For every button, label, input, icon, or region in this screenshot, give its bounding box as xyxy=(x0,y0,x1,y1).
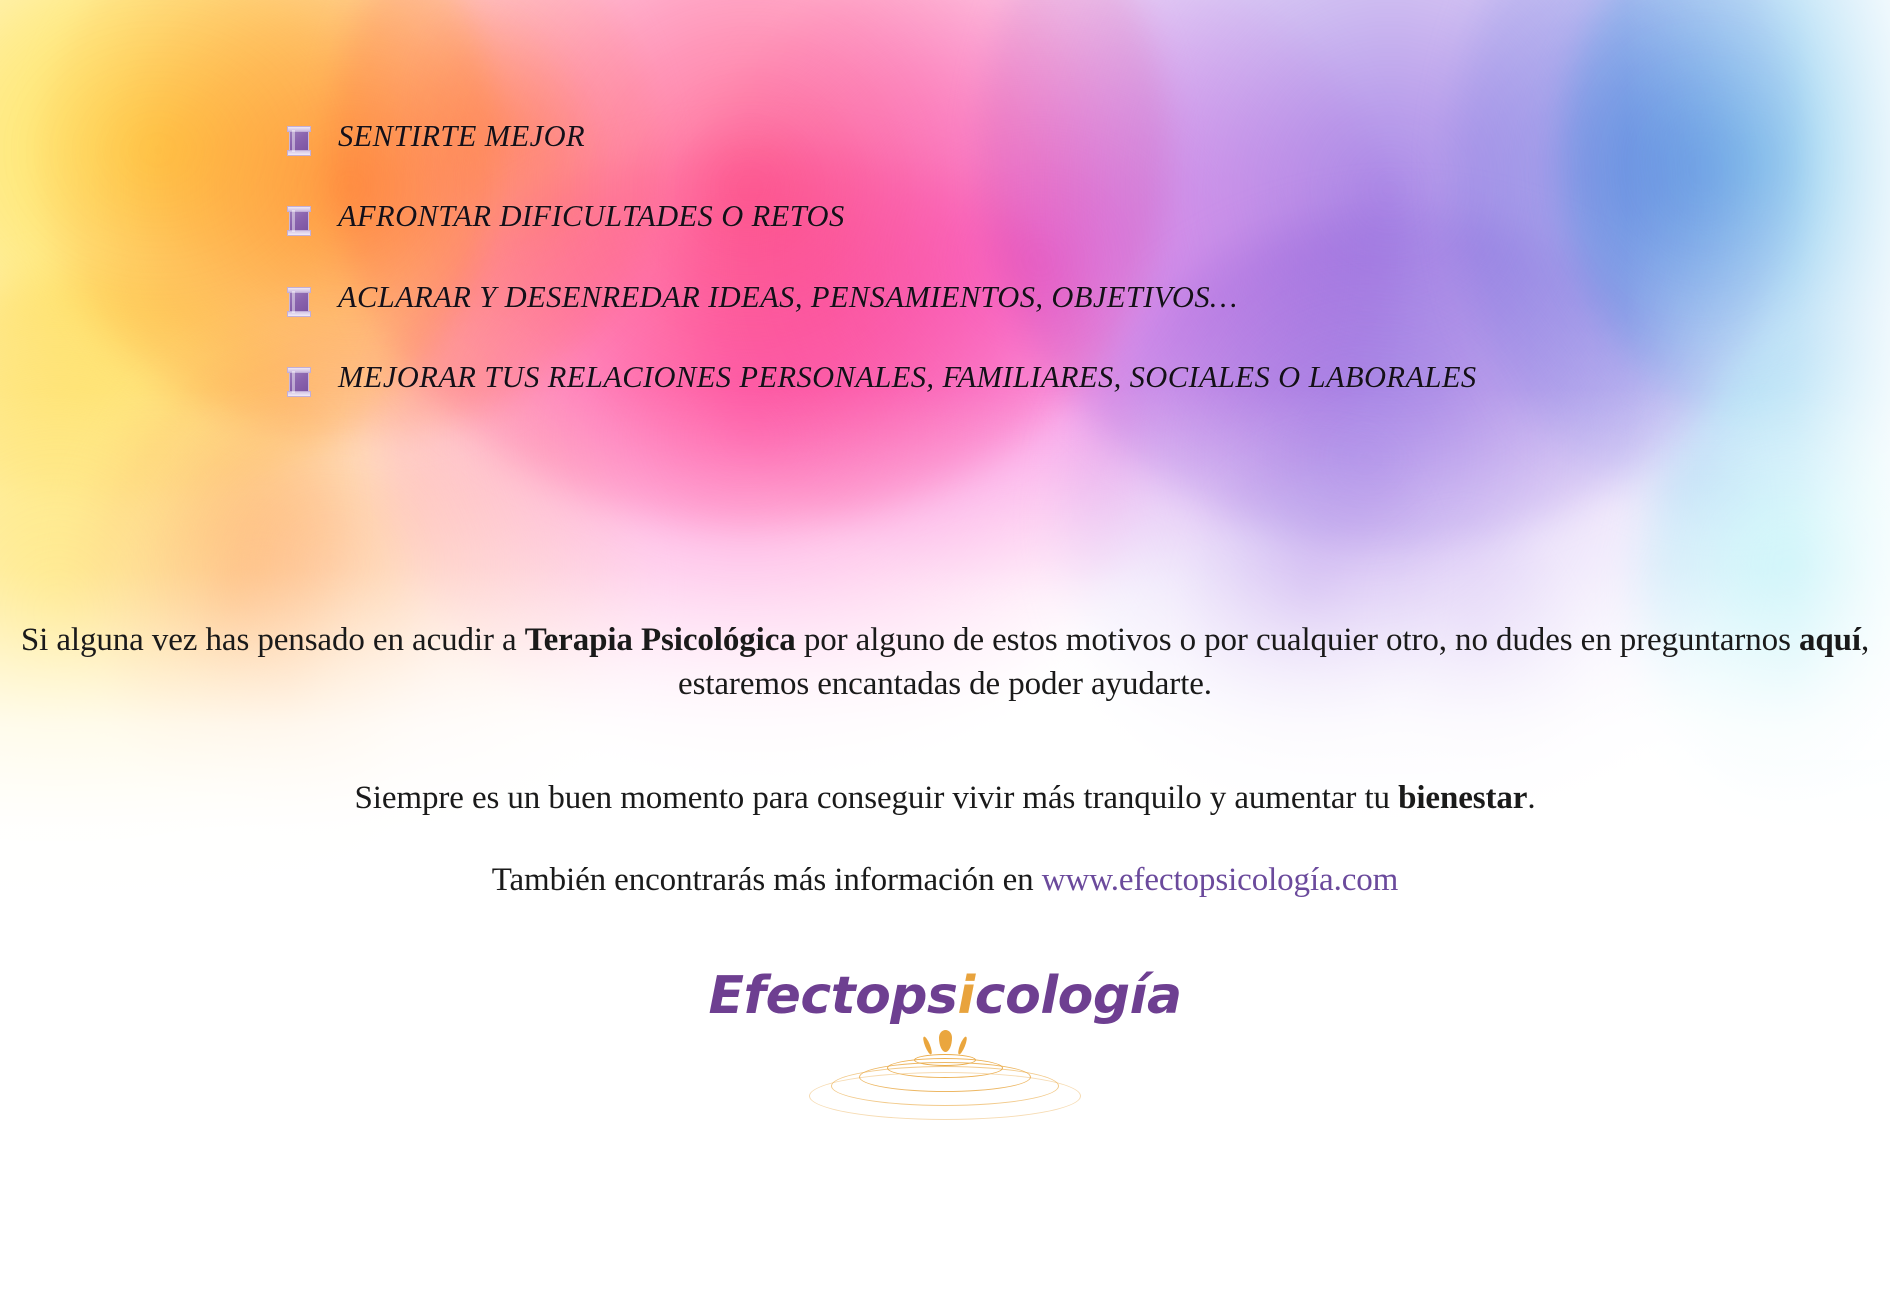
more-info-paragraph: También encontrarás más información en w… xyxy=(0,858,1890,902)
paragraph-bold-bienestar: bienestar xyxy=(1398,780,1527,816)
logo-wordmark: Efectopsicología xyxy=(708,970,1181,1022)
paragraph-text: Si alguna vez has pensado en acudir a xyxy=(21,622,525,658)
list-item: SENTIRTE MEJOR xyxy=(286,115,1716,158)
wellbeing-paragraph: Siempre es un buen momento para consegui… xyxy=(0,776,1890,820)
paragraph-bold-aqui[interactable]: aquí xyxy=(1799,622,1861,658)
list-item-label: AFRONTAR DIFICULTADES O RETOS xyxy=(338,195,845,238)
book-icon xyxy=(286,367,312,397)
benefits-list: SENTIRTE MEJOR AFRONTAR DIFICULTADES O R… xyxy=(286,115,1716,436)
poster-content: SENTIRTE MEJOR AFRONTAR DIFICULTADES O R… xyxy=(0,0,1890,1294)
ripple-ring xyxy=(809,1072,1081,1120)
list-item: AFRONTAR DIFICULTADES O RETOS xyxy=(286,195,1716,238)
list-item-label: MEJORAR TUS RELACIONES PERSONALES, FAMIL… xyxy=(338,356,1477,399)
paragraph-text: Siempre es un buen momento para consegui… xyxy=(355,780,1399,816)
logo-accent-letter: i xyxy=(957,966,974,1026)
book-icon xyxy=(286,206,312,236)
paragraph-text: También encontrarás más información en xyxy=(492,862,1042,898)
splash-left xyxy=(922,1036,934,1055)
intro-paragraph: Si alguna vez has pensado en acudir a Te… xyxy=(0,618,1890,706)
logo-word-part-1: Efectops xyxy=(708,966,957,1026)
brand-logo: Efectopsicología xyxy=(0,970,1890,1118)
water-drop xyxy=(939,1030,952,1052)
book-icon xyxy=(286,287,312,317)
book-icon xyxy=(286,126,312,156)
website-link[interactable]: www.efectopsicología.com xyxy=(1042,862,1399,898)
logo-word-part-2: cología xyxy=(975,966,1182,1026)
paragraph-text: por alguno de estos motivos o por cualqu… xyxy=(796,622,1799,658)
paragraph-text: . xyxy=(1527,780,1535,816)
water-drop-ripple-icon xyxy=(795,1028,1095,1118)
paragraph-bold-terapia: Terapia Psicológica xyxy=(525,622,796,658)
list-item-label: ACLARAR Y DESENREDAR IDEAS, PENSAMIENTOS… xyxy=(338,276,1238,319)
splash-right xyxy=(957,1036,969,1055)
list-item: MEJORAR TUS RELACIONES PERSONALES, FAMIL… xyxy=(286,356,1716,399)
poster-canvas: SENTIRTE MEJOR AFRONTAR DIFICULTADES O R… xyxy=(0,0,1890,1294)
list-item-label: SENTIRTE MEJOR xyxy=(338,115,585,158)
list-item: ACLARAR Y DESENREDAR IDEAS, PENSAMIENTOS… xyxy=(286,276,1716,319)
